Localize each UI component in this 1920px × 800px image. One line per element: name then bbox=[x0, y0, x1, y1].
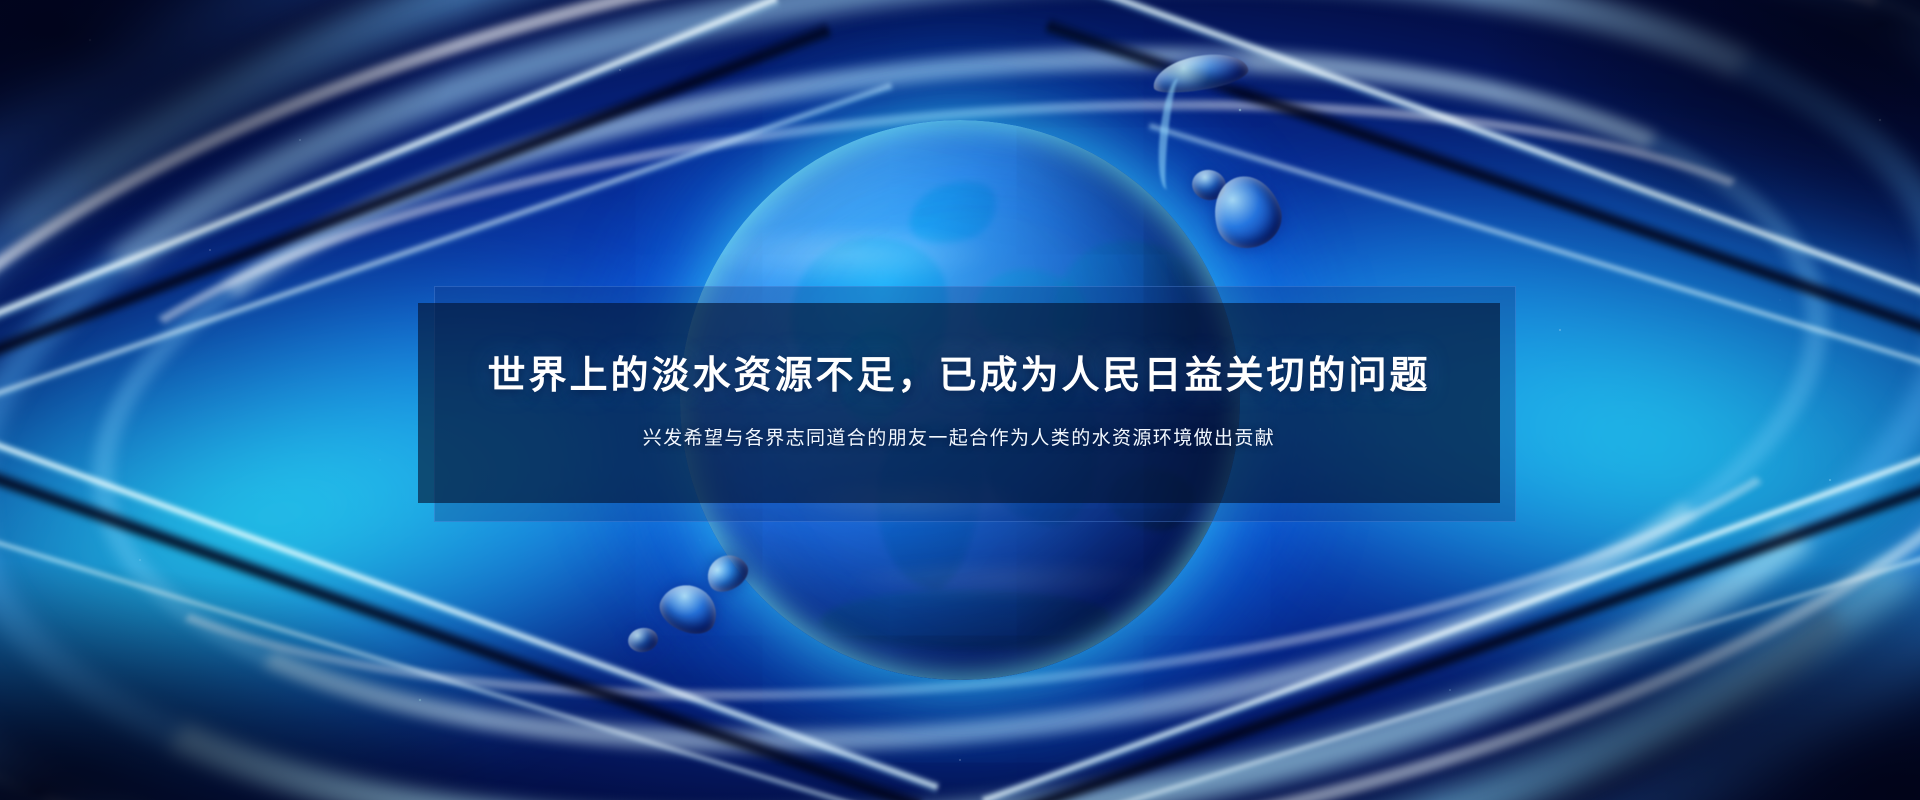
banner-subline: 兴发希望与各界志同道合的朋友一起合作为人类的水资源环境做出贡献 bbox=[643, 426, 1275, 453]
banner-headline: 世界上的淡水资源不足，已成为人民日益关切的问题 bbox=[487, 353, 1430, 401]
hero-banner: 世界上的淡水资源不足，已成为人民日益关切的问题 兴发希望与各界志同道合的朋友一起… bbox=[0, 0, 1920, 800]
landmass-greenland bbox=[901, 172, 1005, 255]
banner-text-block: 世界上的淡水资源不足，已成为人民日益关切的问题 兴发希望与各界志同道合的朋友一起… bbox=[418, 303, 1500, 503]
landmass-antarctica bbox=[820, 590, 1110, 650]
